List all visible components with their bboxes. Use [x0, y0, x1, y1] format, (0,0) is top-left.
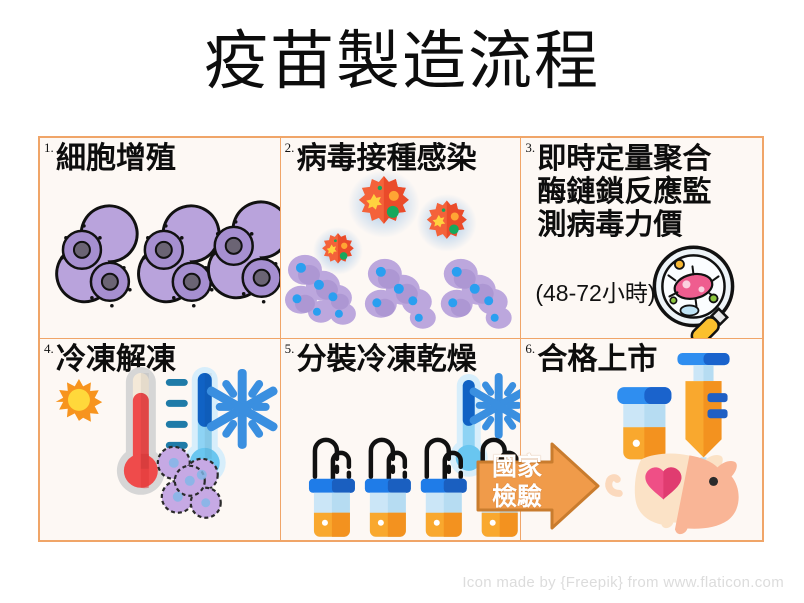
step-label-3: 即時定量聚合 酶鏈鎖反應監 測病毒力價 [537, 142, 758, 241]
hot-thermometer-icon [117, 367, 188, 495]
step-number-6: 6. [525, 341, 535, 357]
sun-icon [56, 379, 103, 422]
arrow-label: 國家 檢驗 [486, 452, 548, 512]
virus-icon [416, 194, 476, 252]
dividing-cell-icon [57, 206, 137, 308]
step-cell-3[interactable]: 3. 即時定量聚合 酶鏈鎖反應監 測病毒力價 (48-72小時) [521, 138, 762, 339]
attribution-credit: Icon made by {Freepik} from www.flaticon… [462, 574, 784, 591]
step-cell-4[interactable]: 4. 冷凍解凍 [40, 339, 281, 540]
step-number-3: 3. [525, 140, 535, 156]
cell-cluster-icon [440, 259, 511, 329]
snowflake-icon [468, 373, 521, 439]
step-number-5: 5. [285, 341, 295, 357]
step-number-4: 4. [44, 341, 54, 357]
slide-canvas: 疫苗製造流程 1. 細胞增殖 [0, 0, 804, 603]
snowflake-icon [205, 369, 279, 449]
step-label-2: 病毒接種感染 [297, 142, 517, 175]
frozen-cell-cluster-icon [158, 447, 221, 518]
cell-cluster-icon [365, 259, 436, 329]
vaccine-vial-icon [618, 387, 672, 459]
step-number-1: 1. [44, 140, 54, 156]
virus-icon [348, 170, 420, 238]
national-inspection-arrow[interactable]: 國家 檢驗 [476, 440, 602, 532]
dividing-cell-icon [208, 202, 279, 304]
pig-heart-icon [609, 454, 739, 535]
process-grid: 1. 細胞增殖 [38, 136, 764, 542]
dividing-cell-icon [139, 206, 219, 308]
freeze-dry-vial-icon [420, 440, 466, 537]
step-cell-1[interactable]: 1. 細胞增殖 [40, 138, 281, 339]
cell-cluster-icon [285, 255, 356, 325]
step-label-1: 細胞增殖 [56, 142, 276, 175]
step-cell-2[interactable]: 2. 病毒接種感染 [281, 138, 522, 339]
virus-icon [313, 227, 363, 275]
cold-thermometer-icon [184, 367, 226, 484]
freeze-dry-vial-icon [309, 440, 355, 537]
page-title: 疫苗製造流程 [0, 30, 804, 94]
step-label-6: 合格上市 [537, 343, 758, 376]
step-duration-3: (48-72小時) [535, 274, 655, 308]
step-label-5: 分裝冷凍乾燥 [297, 343, 517, 376]
step-number-2: 2. [285, 140, 295, 156]
freeze-dry-vial-icon [365, 440, 411, 537]
step-label-4: 冷凍解凍 [56, 343, 276, 376]
